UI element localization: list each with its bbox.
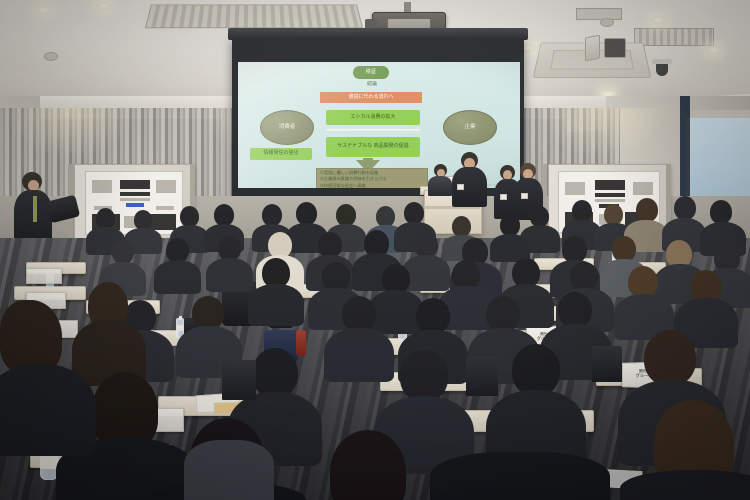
slide-green-box-1: エシカル消費の拡大 [326, 110, 420, 125]
slide-divider [326, 129, 420, 132]
ceiling-vent-icon [576, 8, 622, 20]
downlight-icon [36, 6, 52, 14]
slide-oval-company: 企業 [443, 110, 497, 145]
slide-conclusion-line: ②企業側の意識や評価を引き上げる [320, 176, 424, 181]
chair-back [592, 346, 622, 382]
necktie [33, 196, 37, 222]
downlight-icon [96, 2, 112, 10]
slide-green-box-2: サステナブルな 商品開発の促進 [326, 137, 420, 157]
wall-speaker-icon [604, 38, 626, 58]
table-name-card [26, 268, 62, 284]
ceiling-camera-icon [656, 62, 668, 76]
chair-back [466, 356, 498, 396]
slide-conclusion-line: ①環境に優しい消費行動を促進 [320, 170, 424, 175]
slide-oval-consumer: 消費者 [260, 110, 314, 145]
slide-green-box-3: 情報発信の強化 [250, 148, 312, 160]
ceiling-vent-icon [634, 28, 714, 46]
window-pane [686, 118, 750, 204]
slide-subtitle: 結論 [358, 81, 386, 89]
smoke-detector-icon [44, 52, 58, 61]
conference-room-photo: 検証 結論 通説に代わる流れへ 消費者 企業 エシカル消費の拡大 サステナブルな… [0, 0, 750, 500]
slide-badge: 検証 [353, 66, 389, 79]
chair-back [222, 360, 256, 400]
ceiling-vent-icon [145, 4, 363, 28]
slide-orange-banner: 通説に代わる流れへ [320, 92, 422, 103]
smoke-detector-icon [600, 18, 614, 27]
wall-speaker-icon [585, 35, 600, 62]
slide-conclusion-line: ③持続可能な社会へ貢献 [320, 183, 424, 188]
downlight-icon [706, 46, 722, 54]
slide-conclusion-box: ①環境に優しい消費行動を促進 ②企業側の意識や評価を引き上げる ③持続可能な社会… [316, 168, 428, 188]
floor-thermos [296, 330, 306, 356]
downlight-icon [650, 16, 666, 24]
